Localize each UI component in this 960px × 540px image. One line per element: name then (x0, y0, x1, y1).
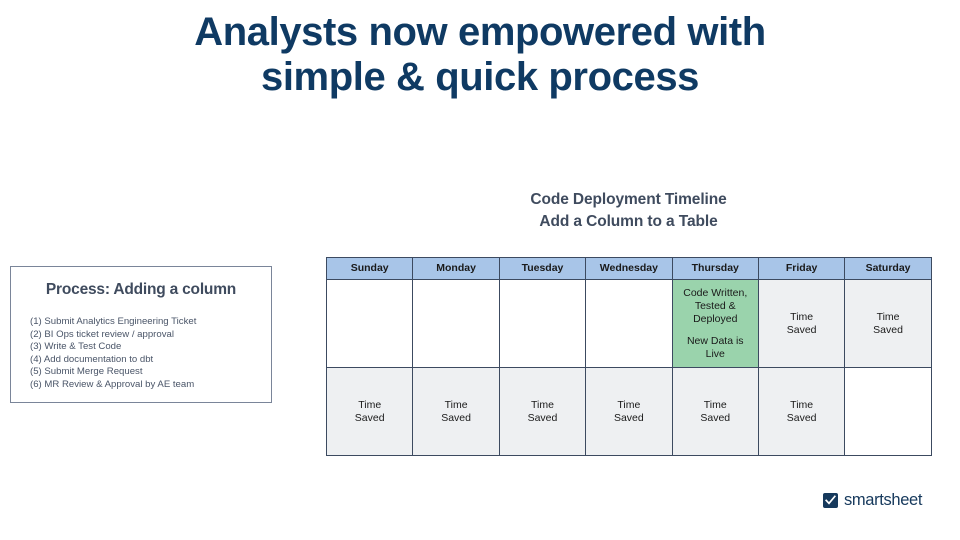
column-header-thursday: Thursday (672, 258, 758, 280)
time-saved-line-1: Time (415, 399, 496, 412)
list-item: (2) BI Ops ticket review / approval (30, 329, 257, 342)
list-item: (4) Add documentation to dbt (30, 354, 257, 367)
time-saved-line-1: Time (502, 399, 583, 412)
time-saved-line-1: Time (761, 399, 842, 412)
list-item: (5) Submit Merge Request (30, 366, 257, 379)
cell-row1-sunday (327, 280, 413, 368)
table-header-row: Sunday Monday Tuesday Wednesday Thursday… (327, 258, 932, 280)
time-saved-line-2: Saved (847, 324, 928, 337)
table-row: Code Written, Tested & Deployed New Data… (327, 280, 932, 368)
smartsheet-logo: smartsheet (823, 492, 922, 508)
cell-row2-thursday-time-saved: Time Saved (672, 368, 758, 456)
cell-row1-friday-time-saved: Time Saved (758, 280, 844, 368)
time-saved-line-2: Saved (761, 324, 842, 337)
page-title-line-1: Analysts now empowered with (120, 10, 840, 55)
list-item: (6) MR Review & Approval by AE team (30, 379, 257, 392)
cell-row1-wednesday (586, 280, 672, 368)
time-saved-line-2: Saved (415, 412, 496, 425)
cell-row2-saturday-absent (845, 368, 931, 456)
table-row: Time Saved Time Saved Time Saved Time Sa… (327, 368, 932, 456)
list-item: (1) Submit Analytics Engineering Ticket (30, 316, 257, 329)
cell-row2-sunday-time-saved: Time Saved (327, 368, 413, 456)
deployment-text-line-5: Live (675, 348, 756, 361)
deployment-text-line-1: Code Written, (675, 287, 756, 300)
deployment-text-line-2: Tested & (675, 300, 756, 313)
time-saved-line-2: Saved (329, 412, 410, 425)
deployment-text-line-3: Deployed (675, 313, 756, 326)
time-saved-line-2: Saved (502, 412, 583, 425)
column-header-friday: Friday (758, 258, 844, 280)
time-saved-line-1: Time (588, 399, 669, 412)
cell-row2-friday-time-saved: Time Saved (758, 368, 844, 456)
process-box-heading: Process: Adding a column (25, 281, 257, 299)
time-saved-line-1: Time (847, 311, 928, 324)
page-title-line-2: simple & quick process (120, 55, 840, 100)
timeline-caption-line-1: Code Deployment Timeline (326, 189, 931, 211)
column-header-saturday: Saturday (845, 258, 931, 280)
timeline-caption-line-2: Add a Column to a Table (326, 211, 931, 233)
brand-wordmark: smartsheet (844, 492, 922, 508)
cell-row2-wednesday-time-saved: Time Saved (586, 368, 672, 456)
time-saved-line-1: Time (329, 399, 410, 412)
time-saved-line-1: Time (761, 311, 842, 324)
time-saved-line-1: Time (675, 399, 756, 412)
time-saved-line-2: Saved (675, 412, 756, 425)
code-deployment-timeline-table: Sunday Monday Tuesday Wednesday Thursday… (326, 257, 932, 456)
process-step-list: (1) Submit Analytics Engineering Ticket … (25, 316, 257, 392)
cell-row1-saturday-time-saved: Time Saved (845, 280, 931, 368)
cell-row2-tuesday-time-saved: Time Saved (499, 368, 585, 456)
cell-row2-monday-time-saved: Time Saved (413, 368, 499, 456)
column-header-wednesday: Wednesday (586, 258, 672, 280)
deployment-text-line-4: New Data is (675, 335, 756, 348)
cell-row1-tuesday (499, 280, 585, 368)
time-saved-line-2: Saved (588, 412, 669, 425)
cell-row1-thursday-deployment: Code Written, Tested & Deployed New Data… (672, 280, 758, 368)
list-item: (3) Write & Test Code (30, 341, 257, 354)
timeline-caption: Code Deployment Timeline Add a Column to… (326, 189, 931, 233)
column-header-tuesday: Tuesday (499, 258, 585, 280)
page-title: Analysts now empowered with simple & qui… (120, 10, 840, 100)
checkmark-icon (823, 493, 838, 508)
timeline-table-wrapper: Sunday Monday Tuesday Wednesday Thursday… (326, 257, 931, 456)
column-header-sunday: Sunday (327, 258, 413, 280)
deployment-text-spacer (675, 326, 756, 335)
cell-row1-monday (413, 280, 499, 368)
column-header-monday: Monday (413, 258, 499, 280)
time-saved-line-2: Saved (761, 412, 842, 425)
process-box: Process: Adding a column (1) Submit Anal… (10, 266, 272, 403)
